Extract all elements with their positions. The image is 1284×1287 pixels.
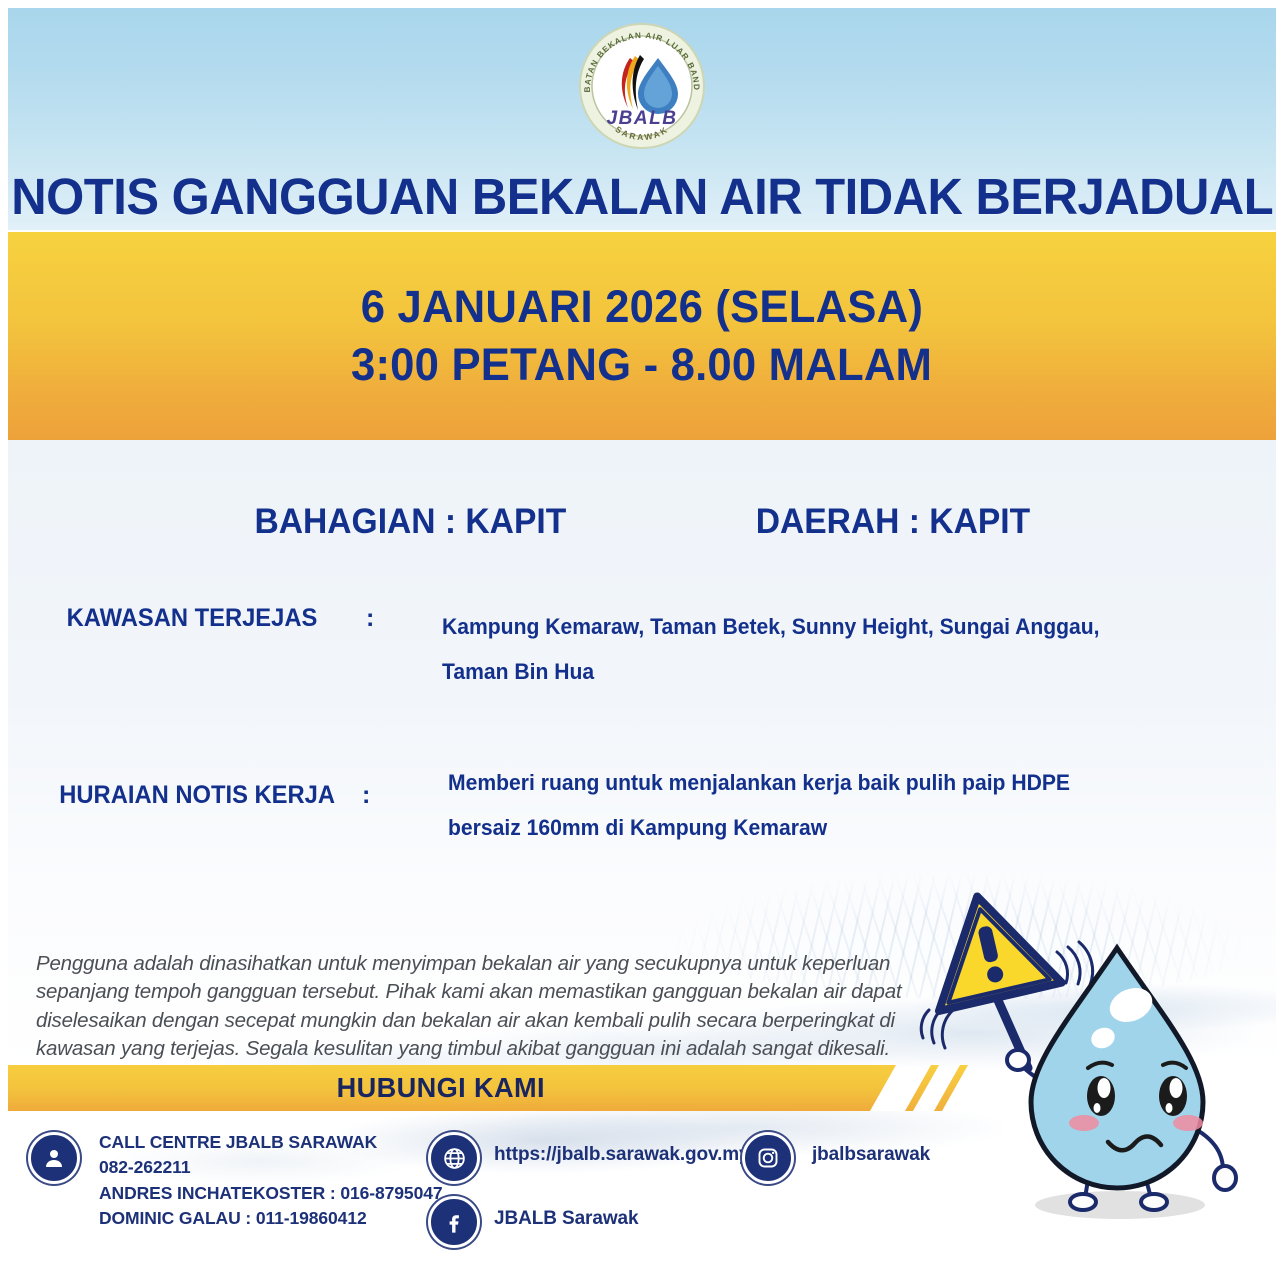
date-time-band: 6 JANUARI 2026 (SELASA) 3:00 PETANG - 8.… [8, 232, 1276, 440]
page-title: NOTIS GANGGUAN BEKALAN AIR TIDAK BERJADU… [11, 167, 1273, 226]
instagram-label[interactable]: jbalbsarawak [812, 1144, 930, 1166]
field-value-line: Kampung Kemaraw, Taman Betek, Sunny Heig… [442, 604, 1100, 649]
field-colon: : [366, 604, 374, 633]
person-icon [28, 1132, 80, 1184]
field-label: KAWASAN TERJEJAS [67, 604, 318, 633]
outage-date: 6 JANUARI 2026 (SELASA) [361, 278, 923, 337]
outage-time: 3:00 PETANG - 8.00 MALAM [351, 336, 932, 395]
facebook-icon[interactable] [428, 1196, 480, 1248]
globe-icon[interactable] [428, 1132, 480, 1184]
field-value-line: Taman Bin Hua [442, 649, 594, 694]
region-row: BAHAGIAN : KAPIT DAERAH : KAPIT [8, 502, 1276, 542]
contact-line[interactable]: ANDRES INCHATEKOSTER : 016-8795047 [99, 1181, 442, 1206]
notice-poster: JABATAN BEKALAN AIR LUAR BANDAR JBALB SA… [0, 0, 1284, 1287]
field-label: HURAIAN NOTIS KERJA [59, 781, 335, 810]
contact-details: CALL CENTRE JBALB SARAWAK 082-262211 AND… [0, 1118, 1284, 1248]
field-value-line: Memberi ruang untuk menjalankan kerja ba… [448, 760, 1070, 805]
call-centre-block: CALL CENTRE JBALB SARAWAK 082-262211 AND… [99, 1130, 442, 1232]
field-value-line: bersaiz 160mm di Kampung Kemaraw [448, 805, 827, 850]
svg-text:JBALB: JBALB [607, 108, 678, 129]
contact-line: CALL CENTRE JBALB SARAWAK [99, 1130, 442, 1155]
instagram-icon[interactable] [742, 1132, 794, 1184]
field-colon: : [362, 781, 370, 810]
website-link[interactable]: https://jbalb.sarawak.gov.my/ [494, 1144, 755, 1166]
facebook-label[interactable]: JBALB Sarawak [494, 1208, 638, 1230]
district-label: DAERAH : KAPIT [756, 502, 1030, 542]
poster-title-band: NOTIS GANGGUAN BEKALAN AIR TIDAK BERJADU… [8, 160, 1276, 232]
contact-section-bar: HUBUNGI KAMI [8, 1065, 896, 1111]
contact-line[interactable]: DOMINIC GALAU : 011-19860412 [99, 1206, 442, 1231]
contact-line[interactable]: 082-262211 [99, 1155, 442, 1180]
division-label: BAHAGIAN : KAPIT [254, 502, 566, 542]
contact-section-title: HUBUNGI KAMI [336, 1072, 544, 1104]
jbalb-logo: JABATAN BEKALAN AIR LUAR BANDAR JBALB SA… [572, 16, 712, 156]
advisory-paragraph: Pengguna adalah dinasihatkan untuk menyi… [36, 950, 916, 1063]
